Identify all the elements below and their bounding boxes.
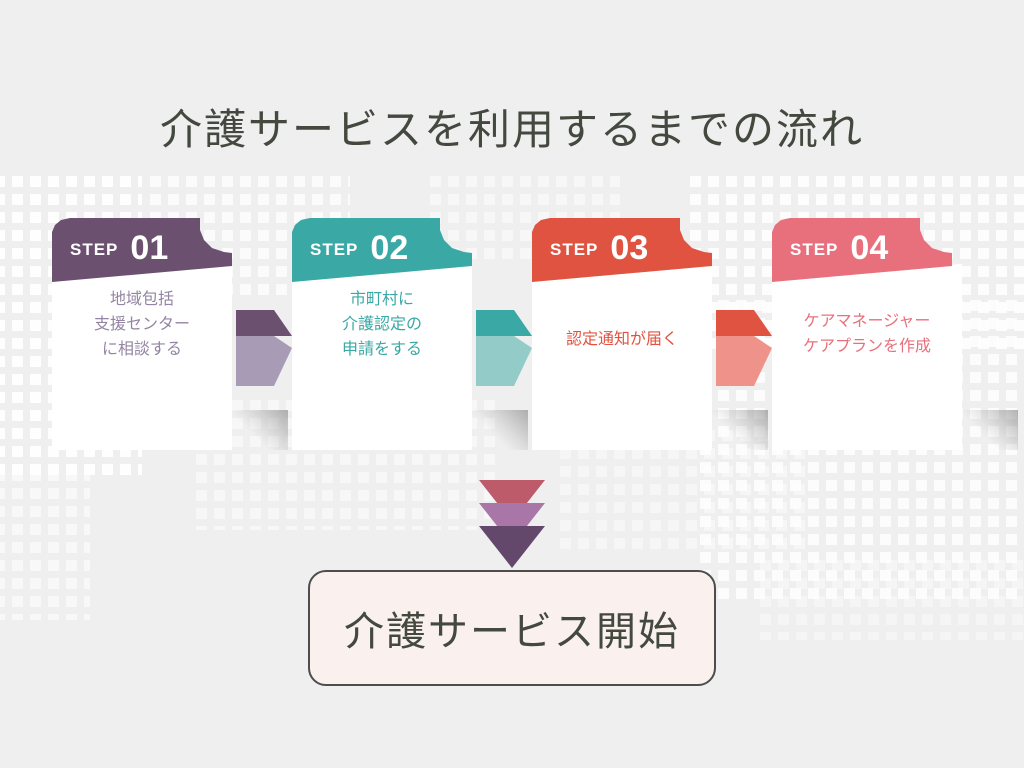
card-description: 市町村に 介護認定の 申請をする	[292, 288, 472, 362]
dot-cluster-left-lower	[0, 470, 90, 620]
down-arrow-group	[479, 480, 545, 560]
final-outcome-label: 介護サービス開始	[344, 599, 680, 657]
card-header-content: STEP 04	[772, 218, 962, 282]
card-header-content: STEP 01	[52, 218, 232, 282]
arrow-bottom-segment	[476, 336, 532, 386]
card-header-content: STEP 02	[292, 218, 472, 282]
step-number-label: 04	[850, 231, 888, 265]
page-title: 介護サービスを利用するまでの流れ	[0, 96, 1024, 157]
card-body	[532, 264, 712, 450]
step-number-label: 02	[370, 231, 408, 265]
connector-arrow-3	[716, 310, 772, 386]
arrow-bottom-segment	[236, 336, 292, 386]
step-card-4[interactable]: STEP 04 ケアマネージャー ケアプランを作成	[772, 218, 962, 450]
card-description: ケアマネージャー ケアプランを作成	[772, 310, 962, 360]
step-word-label: STEP	[70, 240, 118, 260]
final-outcome-box[interactable]: 介護サービス開始	[308, 570, 716, 686]
connector-arrow-1	[236, 310, 292, 386]
step-number-label: 03	[610, 231, 648, 265]
step-word-label: STEP	[550, 240, 598, 260]
arrow-top-segment	[716, 310, 772, 336]
card-header-content: STEP 03	[532, 218, 712, 282]
arrow-bottom-segment	[716, 336, 772, 386]
step-card-3[interactable]: STEP 03 認定通知が届く	[532, 218, 712, 450]
arrow-top-segment	[476, 310, 532, 336]
connector-arrow-2	[476, 310, 532, 386]
card-description: 地域包括 支援センター に相談する	[52, 288, 232, 362]
card-description: 認定通知が届く	[532, 328, 712, 353]
arrow-top-segment	[236, 310, 292, 336]
step-card-1[interactable]: STEP 01 地域包括 支援センター に相談する	[52, 218, 232, 450]
dot-cluster-bottom-right	[760, 560, 1024, 640]
step-word-label: STEP	[310, 240, 358, 260]
step-number-label: 01	[130, 231, 168, 265]
step-card-2[interactable]: STEP 02 市町村に 介護認定の 申請をする	[292, 218, 472, 450]
step-word-label: STEP	[790, 240, 838, 260]
